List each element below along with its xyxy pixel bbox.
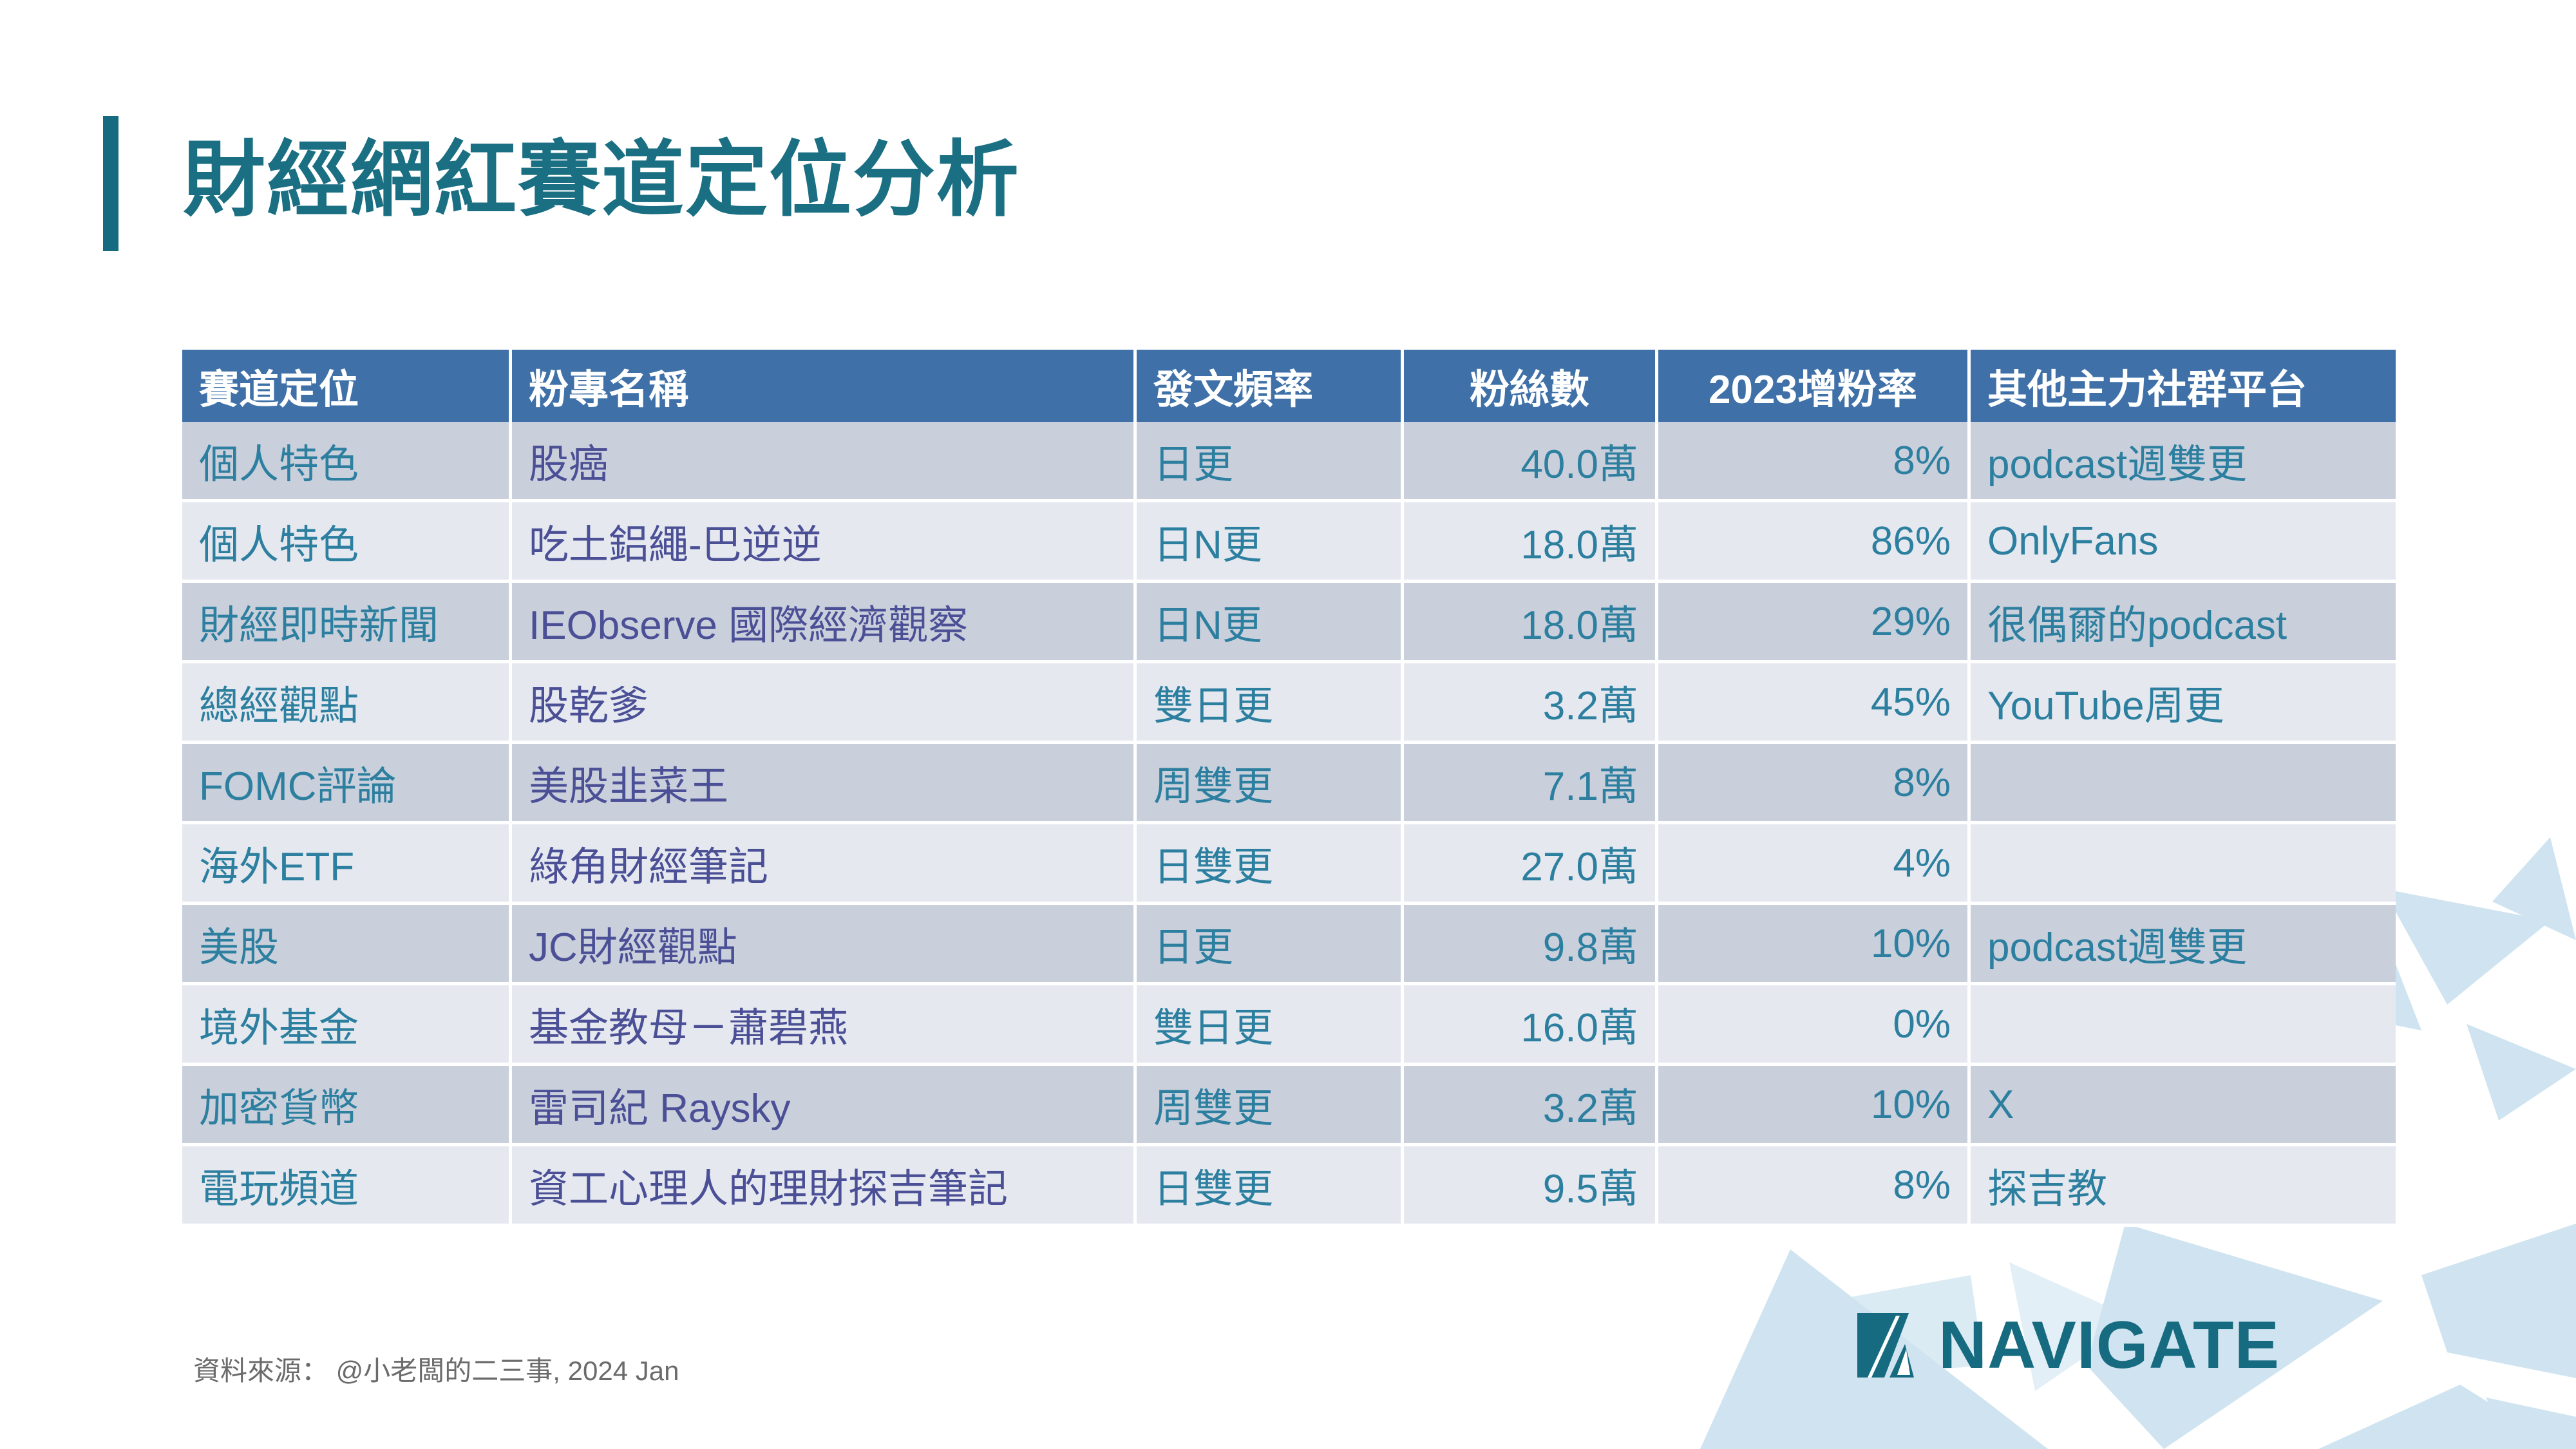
cell-fans: 18.0萬 [1404, 583, 1658, 663]
table-row[interactable]: 總經觀點股乾爹雙日更3.2萬45%YouTube周更 [182, 663, 2396, 744]
table-row[interactable]: 加密貨幣雷司紀 Raysky周雙更3.2萬10%X [182, 1066, 2396, 1146]
cell-other [1971, 744, 2396, 824]
title-accent-bar [103, 116, 118, 251]
cell-track: 個人特色 [182, 502, 512, 583]
table-row[interactable]: 美股JC財經觀點日更9.8萬10%podcast週雙更 [182, 905, 2396, 985]
table-row[interactable]: FOMC評論美股韭菜王周雙更7.1萬8% [182, 744, 2396, 824]
cell-other [1971, 824, 2396, 905]
cell-track: 電玩頻道 [182, 1146, 512, 1227]
cell-other: YouTube周更 [1971, 663, 2396, 744]
cell-fans: 16.0萬 [1404, 985, 1658, 1066]
cell-other: podcast週雙更 [1971, 905, 2396, 985]
column-header-track[interactable]: 賽道定位 [182, 350, 512, 422]
cell-other: OnlyFans [1971, 502, 2396, 583]
cell-track: 財經即時新聞 [182, 583, 512, 663]
table-row[interactable]: 海外ETF綠角財經筆記日雙更27.0萬4% [182, 824, 2396, 905]
cell-fans: 27.0萬 [1404, 824, 1658, 905]
cell-other [1971, 985, 2396, 1066]
influencer-positioning-table: 賽道定位 粉專名稱 發文頻率 粉絲數 2023增粉率 其他主力社群平台 個人特色… [182, 350, 2396, 1227]
cell-growth: 10% [1658, 1066, 1971, 1146]
cell-fans: 9.8萬 [1404, 905, 1658, 985]
cell-fans: 7.1萬 [1404, 744, 1658, 824]
column-header-other[interactable]: 其他主力社群平台 [1971, 350, 2396, 422]
table-row[interactable]: 境外基金基金教母－蕭碧燕雙日更16.0萬0% [182, 985, 2396, 1066]
cell-freq: 日更 [1137, 422, 1404, 502]
cell-freq: 日雙更 [1137, 1146, 1404, 1227]
cell-growth: 8% [1658, 1146, 1971, 1227]
navigate-sail-icon [1855, 1311, 1929, 1380]
cell-track: FOMC評論 [182, 744, 512, 824]
cell-page: 綠角財經筆記 [512, 824, 1137, 905]
cell-growth: 0% [1658, 985, 1971, 1066]
cell-growth: 8% [1658, 744, 1971, 824]
cell-freq: 日雙更 [1137, 824, 1404, 905]
cell-growth: 45% [1658, 663, 1971, 744]
cell-growth: 8% [1658, 422, 1971, 502]
cell-freq: 周雙更 [1137, 744, 1404, 824]
cell-growth: 86% [1658, 502, 1971, 583]
cell-fans: 40.0萬 [1404, 422, 1658, 502]
cell-page: 吃土鋁繩-巴逆逆 [512, 502, 1137, 583]
cell-freq: 雙日更 [1137, 985, 1404, 1066]
column-header-growth[interactable]: 2023增粉率 [1658, 350, 1971, 422]
logo-wordmark: NAVIGATE [1938, 1312, 2280, 1379]
table-row[interactable]: 財經即時新聞IEObserve 國際經濟觀察日N更18.0萬29%很偶爾的pod… [182, 583, 2396, 663]
column-header-page[interactable]: 粉專名稱 [512, 350, 1137, 422]
cell-track: 個人特色 [182, 422, 512, 502]
cell-fans: 18.0萬 [1404, 502, 1658, 583]
cell-other: 探吉教 [1971, 1146, 2396, 1227]
column-header-freq[interactable]: 發文頻率 [1137, 350, 1404, 422]
cell-other: X [1971, 1066, 2396, 1146]
cell-fans: 9.5萬 [1404, 1146, 1658, 1227]
table-row[interactable]: 個人特色股癌日更40.0萬8%podcast週雙更 [182, 422, 2396, 502]
cell-growth: 10% [1658, 905, 1971, 985]
cell-freq: 雙日更 [1137, 663, 1404, 744]
cell-track: 海外ETF [182, 824, 512, 905]
cell-page: 股乾爹 [512, 663, 1137, 744]
cell-page: 股癌 [512, 422, 1137, 502]
cell-track: 加密貨幣 [182, 1066, 512, 1146]
table-row[interactable]: 電玩頻道資工心理人的理財探吉筆記日雙更9.5萬8%探吉教 [182, 1146, 2396, 1227]
slide-canvas: 財經網紅賽道定位分析 賽道定位 粉專名稱 發文頻率 粉絲數 2023增粉率 其他… [0, 0, 2576, 1449]
source-note: 資料來源： @小老闆的二三事, 2024 Jan [193, 1349, 679, 1388]
cell-freq: 日N更 [1137, 502, 1404, 583]
cell-growth: 29% [1658, 583, 1971, 663]
cell-page: 資工心理人的理財探吉筆記 [512, 1146, 1137, 1227]
cell-track: 美股 [182, 905, 512, 985]
cell-page: JC財經觀點 [512, 905, 1137, 985]
cell-freq: 日N更 [1137, 583, 1404, 663]
table-header-row: 賽道定位 粉專名稱 發文頻率 粉絲數 2023增粉率 其他主力社群平台 [182, 350, 2396, 422]
table-row[interactable]: 個人特色吃土鋁繩-巴逆逆日N更18.0萬86%OnlyFans [182, 502, 2396, 583]
table-header: 賽道定位 粉專名稱 發文頻率 粉絲數 2023增粉率 其他主力社群平台 [182, 350, 2396, 422]
column-header-fans[interactable]: 粉絲數 [1404, 350, 1658, 422]
cell-freq: 日更 [1137, 905, 1404, 985]
cell-page: IEObserve 國際經濟觀察 [512, 583, 1137, 663]
cell-page: 美股韭菜王 [512, 744, 1137, 824]
page-title: 財經網紅賽道定位分析 [183, 116, 1020, 245]
cell-fans: 3.2萬 [1404, 663, 1658, 744]
cell-page: 雷司紀 Raysky [512, 1066, 1137, 1146]
title-block: 財經網紅賽道定位分析 [103, 116, 1020, 251]
cell-other: 很偶爾的podcast [1971, 583, 2396, 663]
navigate-logo: NAVIGATE [1855, 1311, 2280, 1380]
cell-other: podcast週雙更 [1971, 422, 2396, 502]
table-body: 個人特色股癌日更40.0萬8%podcast週雙更個人特色吃土鋁繩-巴逆逆日N更… [182, 422, 2396, 1227]
cell-page: 基金教母－蕭碧燕 [512, 985, 1137, 1066]
cell-fans: 3.2萬 [1404, 1066, 1658, 1146]
cell-track: 境外基金 [182, 985, 512, 1066]
cell-freq: 周雙更 [1137, 1066, 1404, 1146]
cell-growth: 4% [1658, 824, 1971, 905]
cell-track: 總經觀點 [182, 663, 512, 744]
